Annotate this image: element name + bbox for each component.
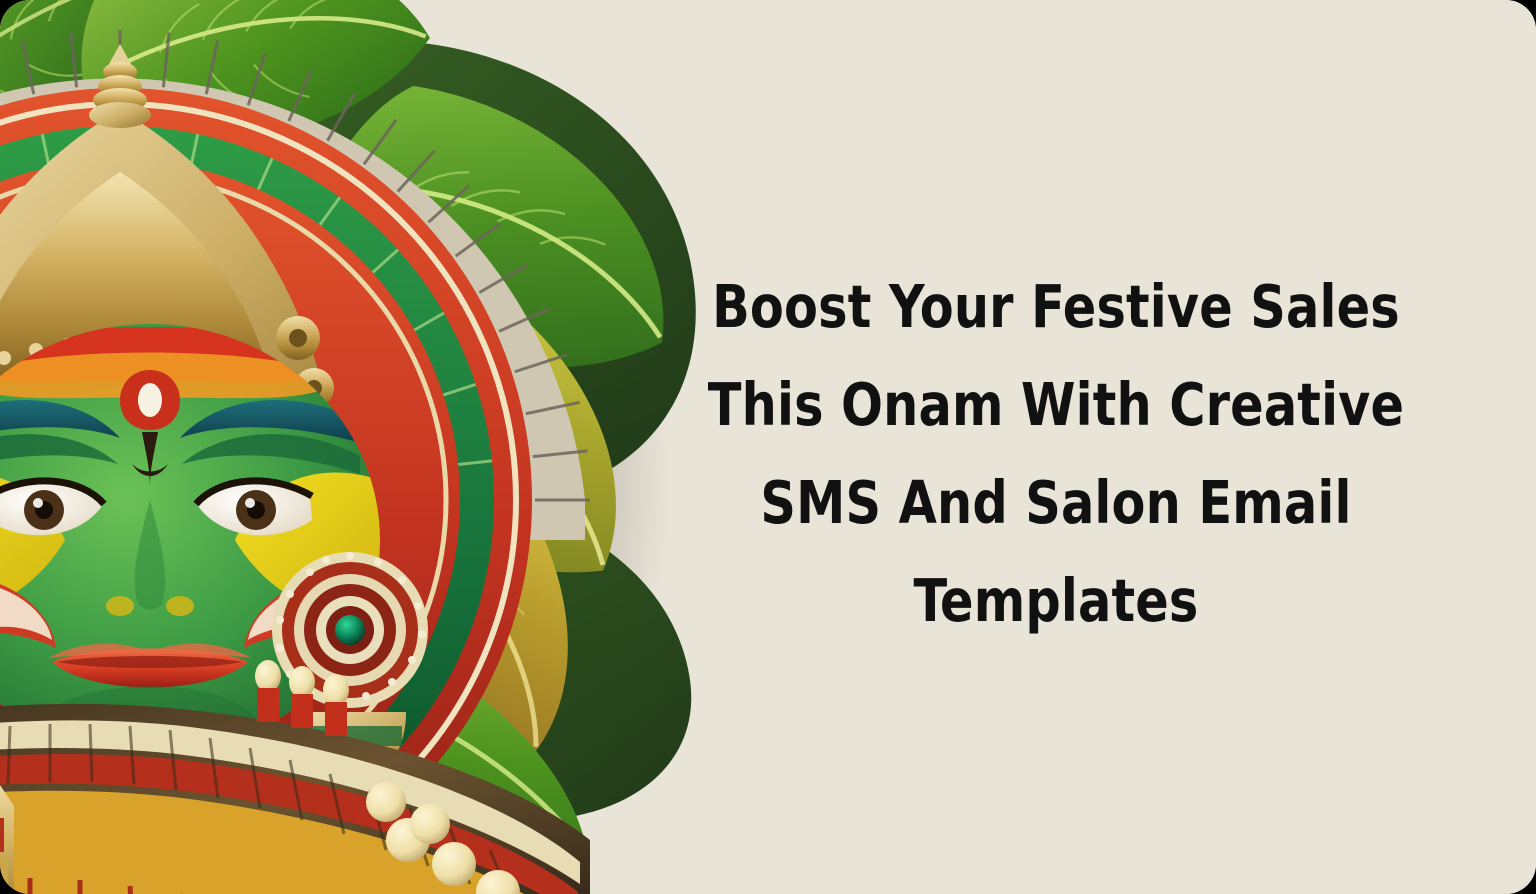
headline: Boost Your Festive Sales This Onam With … (660, 258, 1452, 650)
headline-line-3: SMS And Salon Email (688, 454, 1425, 552)
onam-promo-banner: Boost Your Festive Sales This Onam With … (0, 0, 1536, 894)
headline-line-2: This Onam With Creative (688, 356, 1425, 454)
headline-line-1: Boost Your Festive Sales (688, 258, 1425, 356)
headline-line-4: Templates (688, 552, 1425, 650)
